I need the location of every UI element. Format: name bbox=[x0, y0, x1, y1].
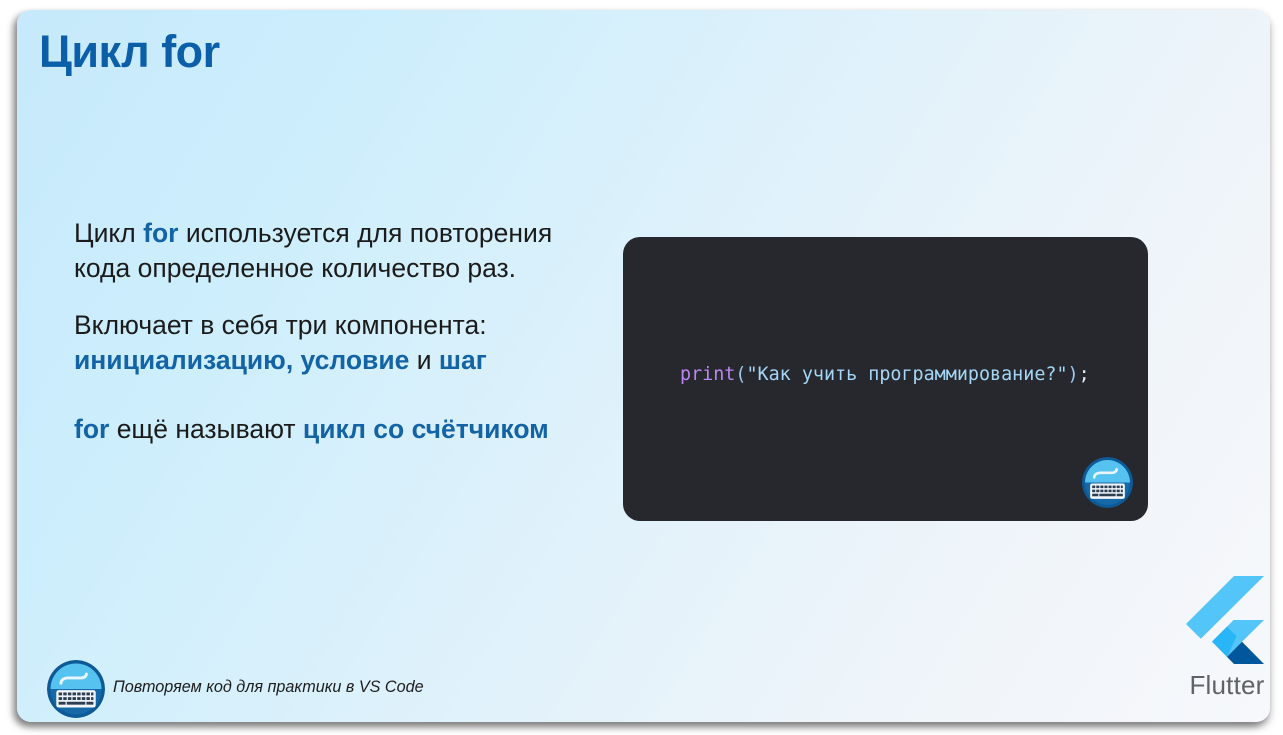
footer-caption: Повторяем код для практики в VS Code bbox=[113, 678, 424, 697]
code-token-paren-open: ( bbox=[735, 364, 746, 385]
paragraph-2-seg-1: инициализацию bbox=[74, 345, 286, 375]
flutter-logo: Flutter bbox=[1168, 576, 1270, 701]
code-token-semicolon: ; bbox=[1079, 364, 1090, 385]
code-token-print: print bbox=[680, 364, 735, 385]
footer: Повторяем код для практики в VS Code bbox=[47, 660, 467, 720]
code-token-paren-close: ) bbox=[1068, 364, 1079, 385]
body-text-column: Цикл for используется для повторения код… bbox=[74, 216, 602, 469]
code-line-2-blank bbox=[680, 482, 1090, 513]
paragraph-1-seg-1: for bbox=[143, 218, 178, 248]
code-block: print("Как учить программирование?"); //… bbox=[623, 237, 1148, 521]
code-lines: print("Как учить программирование?"); //… bbox=[680, 268, 1090, 521]
paragraph-2: Включает в себя три компонента: инициали… bbox=[74, 308, 602, 378]
paragraph-2-seg-3: условие bbox=[301, 345, 410, 375]
paragraph-1: Цикл for используется для повторения код… bbox=[74, 216, 602, 286]
paragraph-3-seg-1: ещё называют bbox=[109, 414, 303, 444]
paragraph-2-seg-5: шаг bbox=[439, 345, 487, 375]
flutter-wordmark: Flutter bbox=[1168, 670, 1270, 701]
paragraph-3: for ещё называют цикл со счётчиком bbox=[74, 412, 602, 447]
paragraph-2-seg-4: и bbox=[409, 345, 439, 375]
flutter-logo-mark bbox=[1186, 576, 1264, 668]
paragraph-3-seg-0: for bbox=[74, 414, 109, 444]
paragraph-2-seg-2: , bbox=[286, 345, 301, 375]
code-line-1: print("Как учить программирование?"); bbox=[680, 360, 1090, 391]
paragraph-3-seg-2: цикл со счётчиком bbox=[303, 414, 549, 444]
keyboard-circle-icon bbox=[47, 660, 105, 718]
paragraph-1-seg-0: Цикл bbox=[74, 218, 143, 248]
paragraph-2-seg-0: Включает в себя три компонента: bbox=[74, 310, 487, 340]
page-title: Цикл for bbox=[39, 26, 220, 78]
keyboard-circle-icon bbox=[1082, 457, 1133, 508]
code-token-string-question: "Как учить программирование?" bbox=[746, 364, 1067, 385]
slide-frame: Цикл for Цикл for используется для повто… bbox=[17, 10, 1270, 722]
